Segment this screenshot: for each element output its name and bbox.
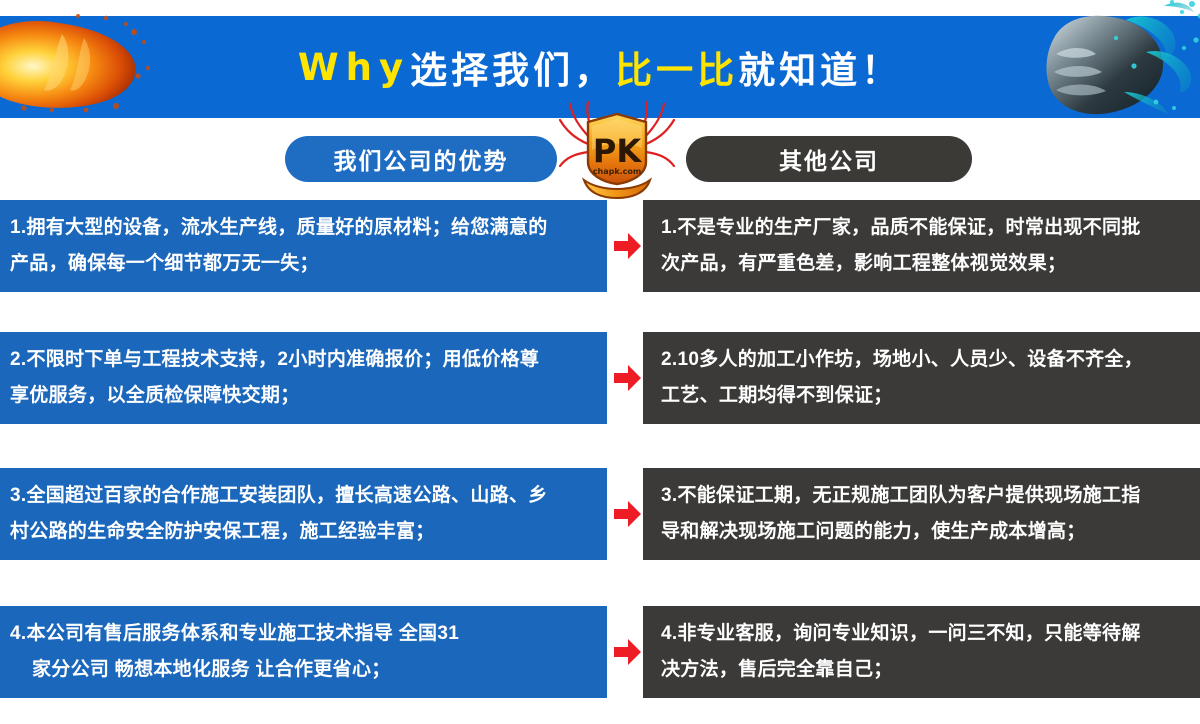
comparison-row: 3.全国超过百家的合作施工安装团队，擅长高速公路、山路、乡 村公路的生命安全防护… — [0, 468, 1200, 560]
column-header-row: 我们公司的优势 其他公司 — [0, 136, 1200, 182]
other-company-line2: 工艺、工期均得不到保证； — [661, 378, 1190, 414]
our-advantage-line1: 1.拥有大型的设备，流水生产线，质量好的原材料；给您满意的 — [10, 210, 593, 246]
red-arrow-icon — [612, 362, 642, 394]
red-arrow-icon — [612, 230, 642, 262]
column-header-our-advantages[interactable]: 我们公司的优势 — [285, 136, 557, 182]
our-advantage-line2: 享优服务，以全质检保障快交期； — [10, 378, 593, 414]
other-company-box: 2.10多人的加工小作坊，场地小、人员少、设备不齐全， 工艺、工期均得不到保证； — [643, 332, 1200, 424]
comparison-row: 2.不限时下单与工程技术支持，2小时内准确报价；用低价格尊 享优服务，以全质检保… — [0, 332, 1200, 424]
our-advantage-line1: 3.全国超过百家的合作施工安装团队，擅长高速公路、山路、乡 — [10, 478, 593, 514]
pk-badge-icon: PK chapk.com — [558, 100, 676, 200]
red-arrow-icon — [612, 498, 642, 530]
our-advantage-line2: 家分公司 畅想本地化服务 让合作更省心； — [10, 652, 593, 688]
column-header-our-advantages-label: 我们公司的优势 — [334, 142, 509, 176]
our-advantage-box: 4.本公司有售后服务体系和专业施工技术指导 全国31 家分公司 畅想本地化服务 … — [0, 606, 607, 698]
our-advantage-line2: 产品，确保每一个细节都万无一失； — [10, 246, 593, 282]
pk-badge-sub-text: chapk.com — [593, 167, 642, 176]
other-company-line2: 导和解决现场施工问题的能力，使生产成本增高； — [661, 514, 1190, 550]
comparison-row: 4.本公司有售后服务体系和专业施工技术指导 全国31 家分公司 畅想本地化服务 … — [0, 606, 1200, 698]
other-company-box: 4.非专业客服，询问专业知识，一问三不知，只能等待解 决方法，售后完全靠自己； — [643, 606, 1200, 698]
other-company-line2: 次产品，有严重色差，影响工程整体视觉效果； — [661, 246, 1190, 282]
our-advantage-box: 1.拥有大型的设备，流水生产线，质量好的原材料；给您满意的 产品，确保每一个细节… — [0, 200, 607, 292]
our-advantage-line2: 村公路的生命安全防护安保工程，施工经验丰富； — [10, 514, 593, 550]
pk-badge-main-text: PK — [593, 132, 642, 170]
other-company-box: 3.不能保证工期，无正规施工团队为客户提供现场施工指 导和解决现场施工问题的能力… — [643, 468, 1200, 560]
our-advantage-line1: 4.本公司有售后服务体系和专业施工技术指导 全国31 — [10, 616, 593, 652]
other-company-line1: 3.不能保证工期，无正规施工团队为客户提供现场施工指 — [661, 478, 1190, 514]
column-header-other-companies-label: 其他公司 — [779, 142, 879, 176]
other-company-line1: 4.非专业客服，询问专业知识，一问三不知，只能等待解 — [661, 616, 1190, 652]
red-arrow-icon — [612, 636, 642, 668]
other-company-line1: 1.不是专业的生产厂家，品质不能保证，时常出现不同批 — [661, 210, 1190, 246]
our-advantage-box: 3.全国超过百家的合作施工安装团队，擅长高速公路、山路、乡 村公路的生命安全防护… — [0, 468, 607, 560]
comparison-row: 1.拥有大型的设备，流水生产线，质量好的原材料；给您满意的 产品，确保每一个细节… — [0, 200, 1200, 292]
our-advantage-line1: 2.不限时下单与工程技术支持，2小时内准确报价；用低价格尊 — [10, 342, 593, 378]
other-company-line2: 决方法，售后完全靠自己； — [661, 652, 1190, 688]
our-advantage-box: 2.不限时下单与工程技术支持，2小时内准确报价；用低价格尊 享优服务，以全质检保… — [0, 332, 607, 424]
other-company-line1: 2.10多人的加工小作坊，场地小、人员少、设备不齐全， — [661, 342, 1190, 378]
banner-top-strip — [0, 0, 1200, 16]
other-company-box: 1.不是专业的生产厂家，品质不能保证，时常出现不同批 次产品，有严重色差，影响工… — [643, 200, 1200, 292]
column-header-other-companies[interactable]: 其他公司 — [686, 136, 972, 182]
